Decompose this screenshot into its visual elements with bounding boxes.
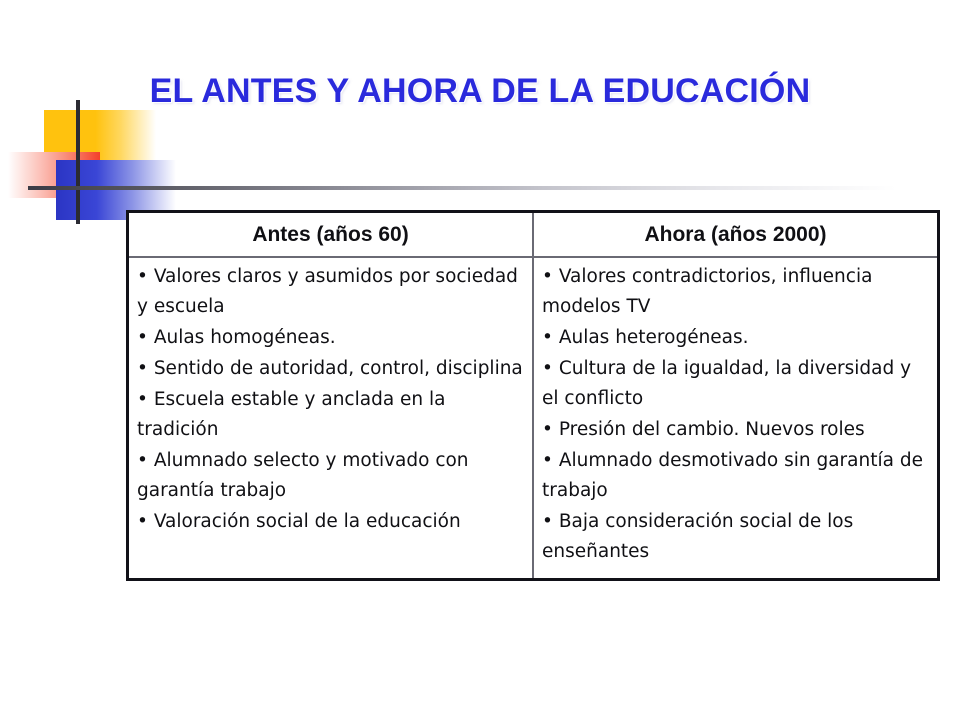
list-item-label: Sentido de autoridad, control, disciplin… (154, 358, 523, 379)
decorative-motif (0, 0, 300, 240)
decor-horizontal-rule (28, 186, 942, 190)
list-item: • Presión del cambio. Nuevos roles (542, 415, 929, 445)
comparison-table: Antes (años 60) Ahora (años 2000) • Valo… (126, 210, 940, 581)
list-item-label: Alumnado desmotivado sin garantía de tra… (542, 450, 923, 501)
bullet-dot-icon: • (542, 358, 553, 379)
list-item: • Valores claros y asumidos por sociedad… (137, 262, 524, 322)
decor-vertical-line-icon (76, 100, 80, 224)
bullet-dot-icon: • (542, 266, 553, 287)
list-item-label: Aulas heterogéneas. (559, 327, 749, 348)
list-item-label: Aulas homogéneas. (154, 327, 336, 348)
cell-ahora: • Valores contradictorios, influencia mo… (533, 257, 937, 578)
bullet-dot-icon: • (137, 511, 148, 532)
column-header-ahora: Ahora (años 2000) (533, 213, 937, 257)
list-item: • Alumnado selecto y motivado con garant… (137, 446, 524, 506)
column-header-antes: Antes (años 60) (129, 213, 533, 257)
list-item: • Valoración social de la educación (137, 507, 524, 537)
list-item-label: Presión del cambio. Nuevos roles (559, 419, 865, 440)
list-item-label: Baja consideración social de los enseñan… (542, 511, 853, 562)
list-item-label: Valores contradictorios, influencia mode… (542, 266, 872, 317)
list-item: • Baja consideración social de los enseñ… (542, 507, 929, 567)
table-header-row: Antes (años 60) Ahora (años 2000) (129, 213, 937, 257)
slide-canvas: EL ANTES Y AHORA DE LA EDUCACIÓN Antes (… (0, 0, 960, 720)
list-item: • Aulas homogéneas. (137, 323, 524, 353)
list-item: • Sentido de autoridad, control, discipl… (137, 354, 524, 384)
list-item: • Cultura de la igualdad, la diversidad … (542, 354, 929, 414)
list-item-label: Cultura de la igualdad, la diversidad y … (542, 358, 911, 409)
bullet-dot-icon: • (542, 511, 553, 532)
bullet-dot-icon: • (137, 450, 148, 471)
list-item-label: Alumnado selecto y motivado con garantía… (137, 450, 469, 501)
list-item-label: Escuela estable y anclada en la tradició… (137, 389, 446, 440)
page-title: EL ANTES Y AHORA DE LA EDUCACIÓN (0, 72, 960, 111)
bullet-dot-icon: • (542, 450, 553, 471)
bullet-dot-icon: • (137, 358, 148, 379)
list-item: • Alumnado desmotivado sin garantía de t… (542, 446, 929, 506)
bullet-dot-icon: • (542, 419, 553, 440)
bullet-dot-icon: • (137, 266, 148, 287)
table-row: • Valores claros y asumidos por sociedad… (129, 257, 937, 578)
list-item-label: Valores claros y asumidos por sociedad y… (137, 266, 518, 317)
list-item-label: Valoración social de la educación (154, 511, 461, 532)
list-item: • Escuela estable y anclada en la tradic… (137, 385, 524, 445)
list-item: • Aulas heterogéneas. (542, 323, 929, 353)
cell-antes: • Valores claros y asumidos por sociedad… (129, 257, 533, 578)
bullet-dot-icon: • (137, 389, 148, 410)
bullet-list-antes: • Valores claros y asumidos por sociedad… (137, 262, 524, 537)
bullet-list-ahora: • Valores contradictorios, influencia mo… (542, 262, 929, 567)
bullet-dot-icon: • (542, 327, 553, 348)
list-item: • Valores contradictorios, influencia mo… (542, 262, 929, 322)
bullet-dot-icon: • (137, 327, 148, 348)
